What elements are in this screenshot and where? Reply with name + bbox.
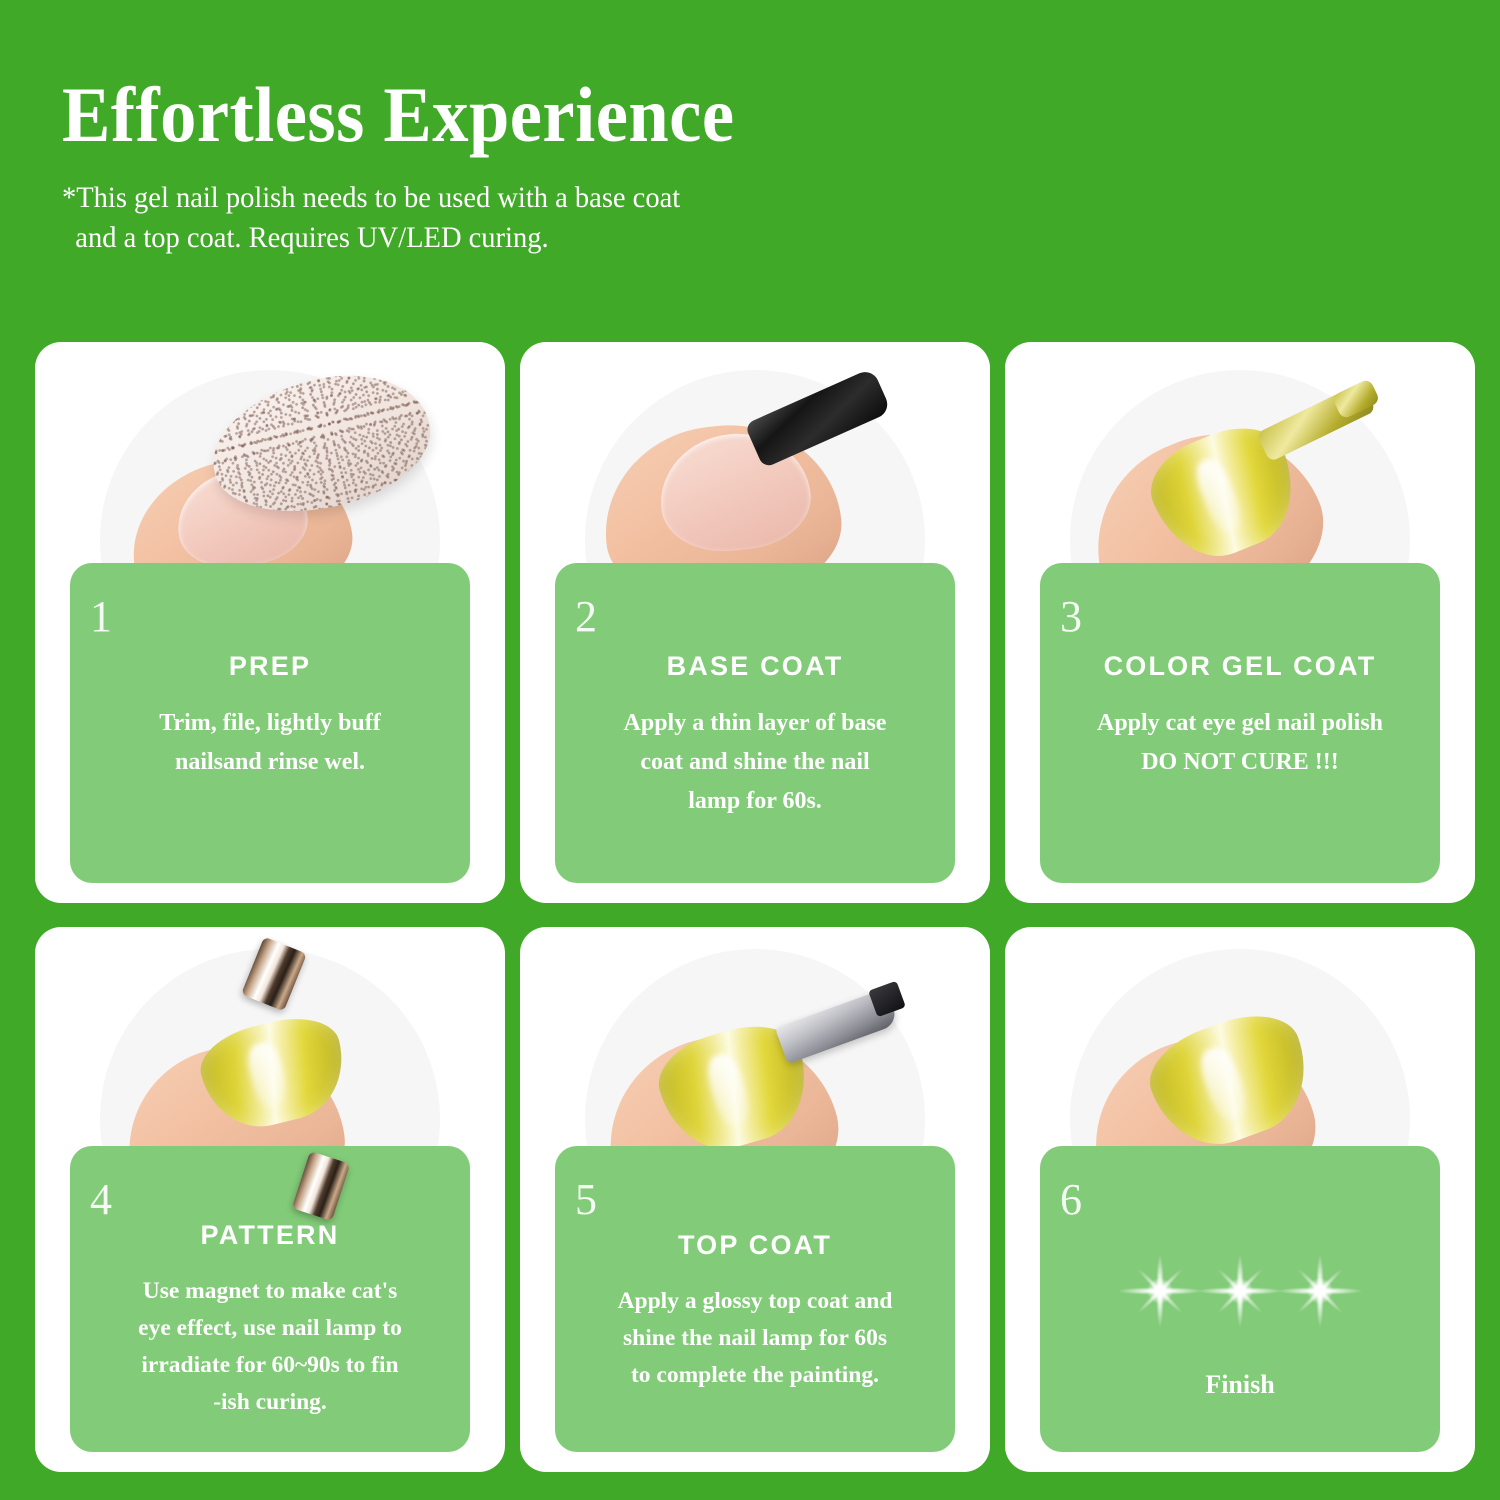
step-body: Trim, file, lightly buff nailsand rinse …	[88, 704, 452, 782]
step-card-4: 4 PATTERN Use magnet to make cat's eye e…	[35, 927, 505, 1472]
step-card-5: 5 TOP COAT Apply a glossy top coat and s…	[520, 927, 990, 1472]
header: Effortless Experience *This gel nail pol…	[0, 0, 1500, 258]
sparkle-icon	[1283, 1256, 1357, 1326]
step-body-line: Apply a thin layer of base	[585, 704, 925, 743]
step-1-panel: 1 PREP Trim, file, lightly buff nailsand…	[70, 563, 470, 883]
step-number: 5	[575, 1178, 597, 1222]
step-body-line: shine the nail lamp for 60s	[585, 1320, 925, 1357]
step-body-line: to complete the painting.	[585, 1357, 925, 1394]
step-number: 6	[1060, 1178, 1082, 1222]
subtitle-line-2: and a top coat. Requires UV/LED curing.	[62, 218, 1428, 258]
step-heading: BASE COAT	[573, 651, 937, 682]
step-heading: PREP	[88, 651, 452, 682]
steps-grid: 1 PREP Trim, file, lightly buff nailsand…	[35, 342, 1465, 1472]
finish-label: Finish	[1058, 1370, 1422, 1400]
step-number: 2	[575, 595, 597, 639]
step-6-panel: 6 Finish	[1040, 1146, 1440, 1452]
step-body-line: nailsand rinse wel.	[100, 743, 440, 782]
step-body-line: lamp for 60s.	[585, 782, 925, 821]
step-body-line: Use magnet to make cat's	[100, 1273, 440, 1310]
step-5-panel: 5 TOP COAT Apply a glossy top coat and s…	[555, 1146, 955, 1452]
step-3-panel: 3 COLOR GEL COAT Apply cat eye gel nail …	[1040, 563, 1440, 883]
step-card-6: 6 Finish	[1005, 927, 1475, 1472]
step-2-panel: 2 BASE COAT Apply a thin layer of base c…	[555, 563, 955, 883]
step-number: 4	[90, 1178, 112, 1222]
step-card-3: 3 COLOR GEL COAT Apply cat eye gel nail …	[1005, 342, 1475, 903]
step-body: Use magnet to make cat's eye effect, use…	[88, 1273, 452, 1422]
step-body-line: Apply a glossy top coat and	[585, 1283, 925, 1320]
step-body-line: Apply cat eye gel nail polish	[1070, 704, 1410, 743]
step-heading: COLOR GEL COAT	[1058, 651, 1422, 682]
step-body-line: irradiate for 60~90s to fin	[100, 1347, 440, 1384]
step-4-panel: 4 PATTERN Use magnet to make cat's eye e…	[70, 1146, 470, 1452]
step-body-line: coat and shine the nail	[585, 743, 925, 782]
sparkle-group	[1058, 1256, 1422, 1326]
subtitle-line-1: *This gel nail polish needs to be used w…	[62, 181, 680, 214]
step-heading: PATTERN	[88, 1220, 452, 1251]
step-body-line: -ish curing.	[100, 1384, 440, 1421]
step-body-line: eye effect, use nail lamp to	[100, 1310, 440, 1347]
step-body-line: DO NOT CURE !!!	[1070, 743, 1410, 782]
magnet-icon	[292, 1151, 350, 1221]
step-card-2: 2 BASE COAT Apply a thin layer of base c…	[520, 342, 990, 903]
page-title: Effortless Experience	[62, 78, 1399, 152]
step-number: 1	[90, 595, 112, 639]
step-body: Apply cat eye gel nail polish DO NOT CUR…	[1058, 704, 1422, 782]
sparkle-icon	[1203, 1256, 1277, 1326]
step-body-line: Trim, file, lightly buff	[100, 704, 440, 743]
step-heading: TOP COAT	[573, 1230, 937, 1261]
step-body: Apply a glossy top coat and shine the na…	[573, 1283, 937, 1394]
sparkle-icon	[1123, 1256, 1197, 1326]
page-subtitle: *This gel nail polish needs to be used w…	[62, 178, 1428, 258]
step-number: 3	[1060, 595, 1082, 639]
step-card-1: 1 PREP Trim, file, lightly buff nailsand…	[35, 342, 505, 903]
step-body: Apply a thin layer of base coat and shin…	[573, 704, 937, 821]
